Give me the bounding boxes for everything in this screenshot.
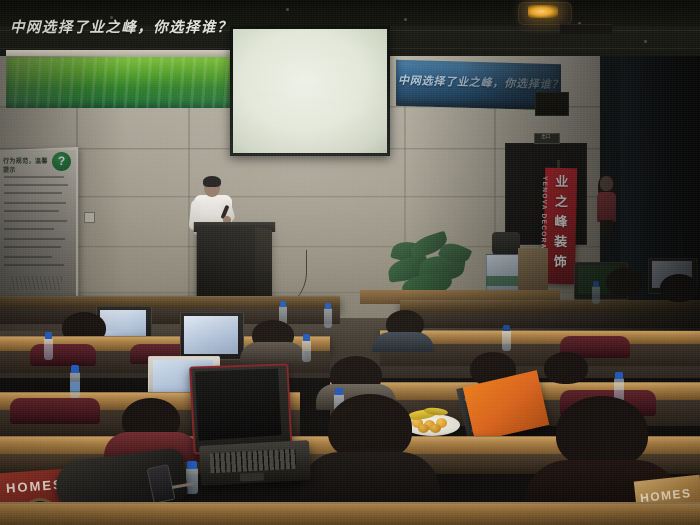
audience-head-foreground (556, 396, 648, 468)
seat-back[interactable] (30, 344, 96, 366)
water-bottle (302, 340, 311, 362)
ceiling-vent (560, 24, 612, 34)
audience-head (544, 352, 588, 384)
ceiling-fixture-dot (644, 40, 647, 43)
ceiling-fixture-dot (286, 8, 289, 11)
tangerine (430, 424, 441, 433)
audience-shoulders (372, 332, 434, 352)
water-bottle (502, 330, 511, 351)
bottle-cap (187, 461, 197, 469)
audience-head-foreground (328, 394, 412, 460)
wall-shading (0, 56, 700, 331)
bottle-cap (71, 365, 79, 373)
laptop-screen (195, 369, 282, 441)
ceiling-spotlight-icon (528, 5, 558, 18)
seat-back[interactable] (10, 398, 100, 424)
audience-shoulders (240, 342, 306, 364)
ceiling-fixture-dot (404, 18, 407, 21)
water-bottle (44, 338, 53, 360)
water-bottle (186, 468, 198, 494)
foreground-laptop[interactable] (192, 365, 310, 490)
bottle-cap (615, 372, 623, 379)
bottle-cap (335, 388, 343, 395)
laptop-touchpad[interactable] (240, 472, 264, 481)
lecture-hall-photo: 中网选择了业之峰，你选择谁？ 中网选择了业之峰，你选择谁？ 行为规范，温馨提示 … (0, 0, 700, 525)
bottle-cap (303, 334, 310, 341)
tangerine (418, 424, 429, 433)
foreground-desk-edge (0, 502, 700, 525)
bottle-label (70, 382, 80, 391)
bottle-cap (45, 332, 52, 339)
